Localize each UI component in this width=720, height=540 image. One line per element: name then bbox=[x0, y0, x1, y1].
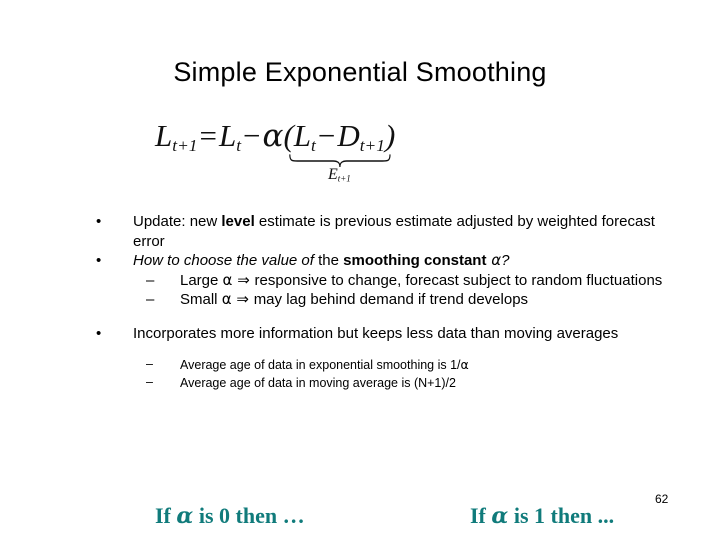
formula-underbrace-group: (Lt−Dt+1) Et+1 bbox=[283, 118, 395, 164]
bullet-text-how-to-choose: How to choose the value of the smoothing… bbox=[133, 252, 509, 269]
formula-error-term: (Lt−Dt+1) bbox=[283, 118, 395, 153]
alpha-symbol: α bbox=[223, 271, 233, 289]
content-spacer bbox=[90, 310, 690, 324]
bullet-update-bold-level: level bbox=[221, 213, 254, 230]
formula-error-base: E bbox=[328, 166, 338, 183]
bullet-choose-plain: the bbox=[314, 252, 343, 269]
bullet-marker: • bbox=[96, 251, 101, 271]
note-item-moving-average-age: – Average age of data in moving average … bbox=[90, 374, 690, 392]
formula-lhs: Lt+1 bbox=[155, 118, 197, 153]
formula-inner-demand-base: D bbox=[337, 118, 359, 153]
note-dash-marker: – bbox=[146, 356, 153, 373]
formula-minus: − bbox=[241, 118, 262, 153]
sub-bullet-large-alpha: – Large α ⇒ responsive to change, foreca… bbox=[90, 271, 690, 291]
formula-rhs-level-base: L bbox=[219, 118, 236, 153]
bullet-incorporates-line1: Incorporates more information but keeps … bbox=[133, 325, 500, 342]
bullet-marker: • bbox=[96, 212, 101, 232]
sub-bullet-large-line2: random fluctuations bbox=[531, 272, 662, 289]
double-arrow-icon: ⇒ bbox=[232, 290, 254, 308]
formula-alpha-symbol: α bbox=[263, 118, 284, 154]
note-item-exponential-age: – Average age of data in exponential smo… bbox=[90, 356, 690, 374]
sub-bullet-dash-marker: – bbox=[146, 290, 154, 310]
footer-left-suffix: is 0 then … bbox=[193, 503, 304, 528]
bullet-text-incorporates: Incorporates more information but keeps … bbox=[133, 325, 618, 342]
sub-bullet-large-line1: responsive to change, forecast subject t… bbox=[255, 272, 528, 289]
formula-block: Lt+1=Lt−α (Lt−Dt+1) Et+1 bbox=[155, 118, 395, 164]
bullet-marker: • bbox=[96, 324, 101, 344]
formula-inner-demand-subscript: t+1 bbox=[360, 136, 385, 155]
formula-close-paren: ) bbox=[385, 118, 395, 153]
formula-lhs-base: L bbox=[155, 118, 172, 153]
sub-bullet-large-prefix: Large bbox=[180, 272, 223, 289]
bullet-update-part-b: estimate is previous estimate adjusted b… bbox=[255, 213, 533, 230]
footer-right-prefix: If bbox=[470, 503, 491, 528]
formula-equals: = bbox=[197, 118, 218, 153]
note-text-moving-average-age: Average age of data in moving average is… bbox=[180, 376, 456, 390]
content-body: • Update: new level estimate is previous… bbox=[90, 212, 690, 392]
formula-rhs-level: Lt bbox=[219, 118, 241, 153]
bullet-text-update: Update: new level estimate is previous e… bbox=[133, 213, 655, 250]
slide-canvas: Simple Exponential Smoothing Lt+1=Lt−α (… bbox=[0, 0, 720, 540]
content-spacer bbox=[90, 343, 690, 356]
note-text-exponential-age: Average age of data in exponential smoot… bbox=[180, 358, 469, 372]
bullet-update-part-a: Update: new bbox=[133, 213, 221, 230]
formula-inner-level-base: L bbox=[294, 118, 311, 153]
alpha-symbol: α bbox=[486, 251, 501, 269]
page-title: Simple Exponential Smoothing bbox=[0, 56, 720, 88]
alpha-symbol: α bbox=[222, 290, 232, 308]
sub-bullet-small-line1: may lag behind demand if trend develops bbox=[254, 291, 528, 308]
formula-lhs-subscript: t+1 bbox=[172, 136, 197, 155]
bullet-item-update: • Update: new level estimate is previous… bbox=[90, 212, 690, 251]
formula-open-paren: ( bbox=[283, 118, 293, 153]
footer-prompt-alpha-zero: If α is 0 then … bbox=[155, 503, 305, 529]
bullet-item-how-to-choose: • How to choose the value of the smoothi… bbox=[90, 251, 690, 271]
bullet-item-incorporates: • Incorporates more information but keep… bbox=[90, 324, 690, 344]
bullet-incorporates-line2: moving averages bbox=[504, 325, 618, 342]
slide-number: 62 bbox=[655, 492, 668, 506]
sub-bullet-small-prefix: Small bbox=[180, 291, 222, 308]
sub-bullet-small-text: Small α ⇒ may lag behind demand if trend… bbox=[180, 291, 528, 308]
alpha-symbol: α bbox=[461, 357, 469, 372]
footer-right-suffix: is 1 then ... bbox=[508, 503, 614, 528]
bullet-choose-italic: How to choose the value of bbox=[133, 252, 314, 269]
sub-bullet-small-alpha: – Small α ⇒ may lag behind demand if tre… bbox=[90, 290, 690, 310]
formula-inner-minus: − bbox=[316, 118, 337, 153]
bullet-choose-tail: ? bbox=[501, 252, 509, 269]
note-exponential-text: Average age of data in exponential smoot… bbox=[180, 358, 461, 372]
sub-bullet-large-text: Large α ⇒ responsive to change, forecast… bbox=[180, 272, 662, 289]
note-moving-average-text: Average age of data in moving average is… bbox=[180, 376, 456, 390]
double-arrow-icon: ⇒ bbox=[232, 271, 254, 289]
alpha-symbol: α bbox=[176, 503, 193, 529]
formula-underbrace-label: Et+1 bbox=[283, 166, 395, 188]
sub-bullet-dash-marker: – bbox=[146, 271, 154, 291]
footer-prompt-alpha-one: If α is 1 then ... bbox=[470, 503, 614, 529]
note-dash-marker: – bbox=[146, 374, 153, 391]
footer-left-prefix: If bbox=[155, 503, 176, 528]
alpha-symbol: α bbox=[491, 503, 508, 529]
bullet-choose-bold: smoothing constant bbox=[343, 252, 486, 269]
formula-error-subscript: t+1 bbox=[338, 174, 351, 184]
